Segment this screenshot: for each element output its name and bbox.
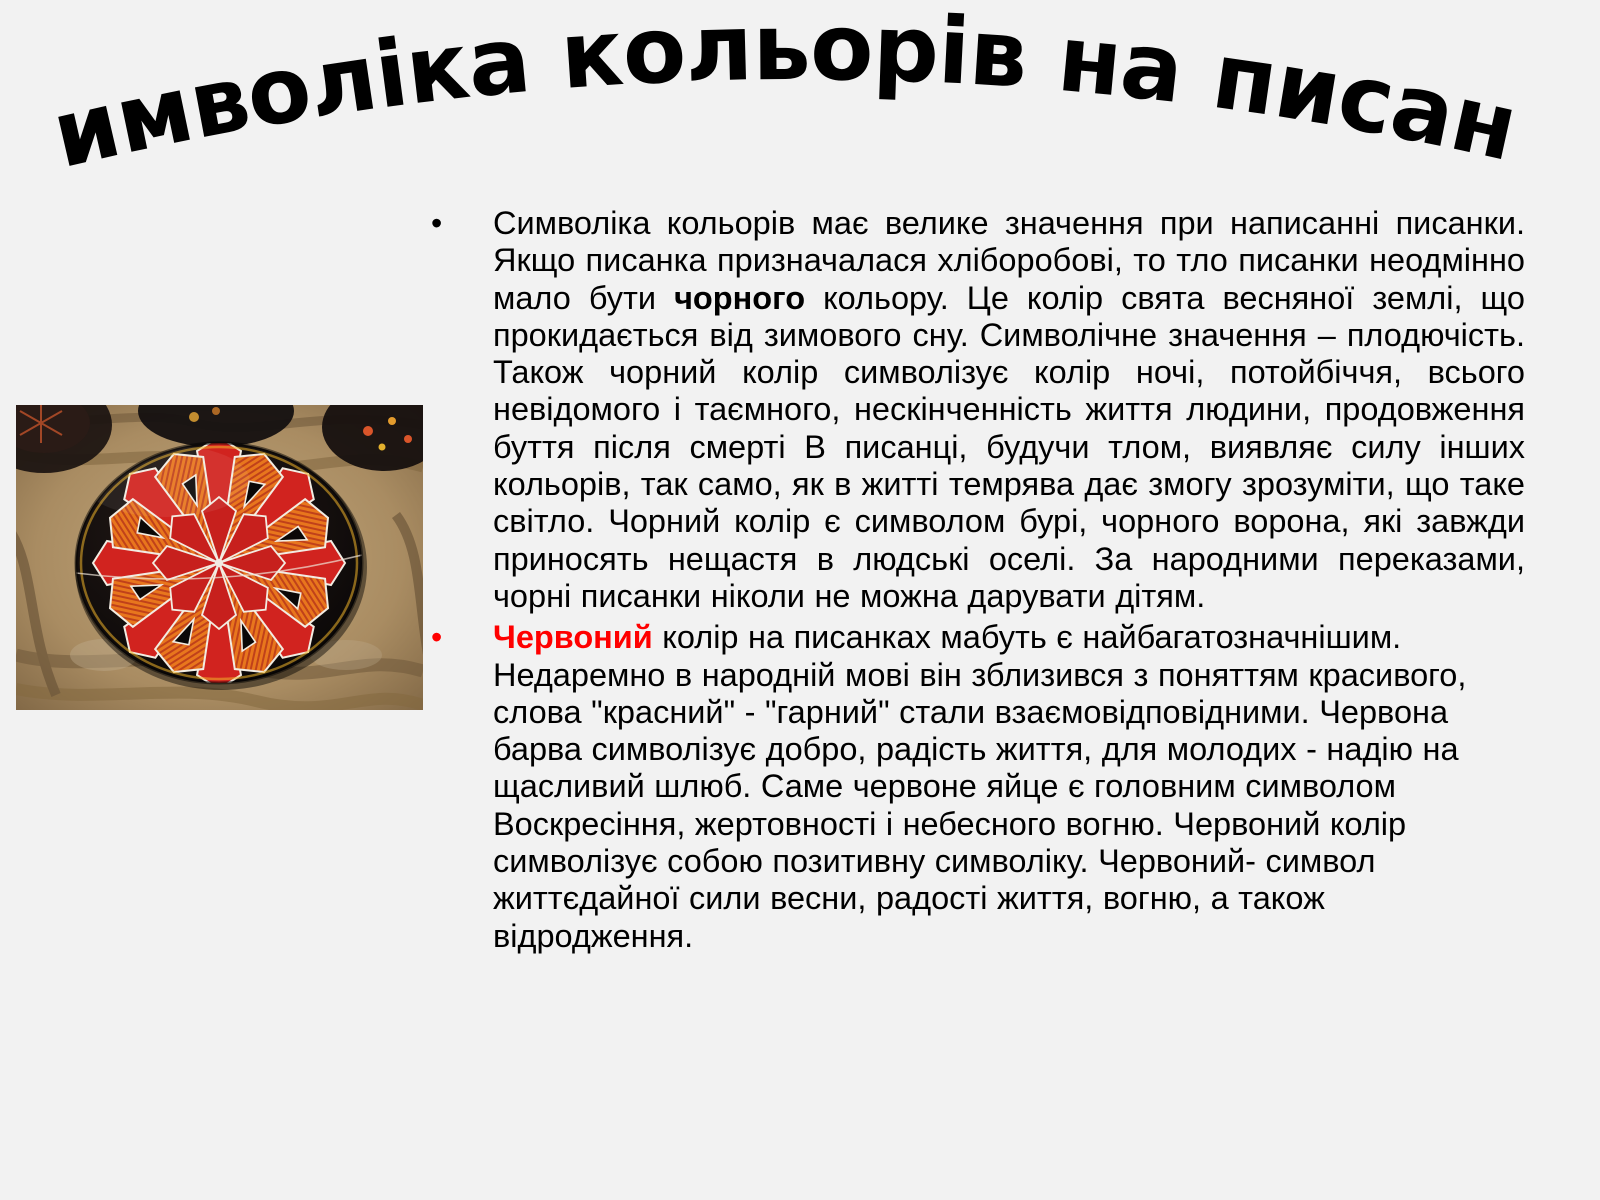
title-text: Символіка кольорів на писанці <box>36 0 1525 189</box>
slide-title: Символіка кольорів на писанці <box>70 14 1530 184</box>
slide: Символіка кольорів на писанці <box>0 0 1600 1200</box>
bullet-0-segment-2: кольору. Це колір свята весняної землі, … <box>493 280 1525 614</box>
bullet-0-segment-1-bold: чорного <box>674 280 805 316</box>
bullet-1-segment-1: колір на писанках мабуть є найбагатознач… <box>493 619 1466 953</box>
title-textpath: Символіка кольорів на писанці <box>36 0 1525 189</box>
pysanka-photo <box>16 405 423 710</box>
bullet-marker-icon: • <box>425 205 493 242</box>
content-body: • Символіка кольорів має велике значення… <box>425 205 1525 959</box>
bullet-text-black: Символіка кольорів має велике значення п… <box>493 205 1525 615</box>
bullet-1-segment-0-bold-red: Червоний <box>493 619 653 655</box>
bullet-item-black: • Символіка кольорів має велике значення… <box>425 205 1525 615</box>
title-wordart: Символіка кольорів на писанці <box>70 14 1530 184</box>
bullet-item-red: • Червоний колір на писанках мабуть є на… <box>425 619 1525 955</box>
pysanka-illustration <box>16 405 423 710</box>
bullet-text-red: Червоний колір на писанках мабуть є найб… <box>493 619 1525 955</box>
bullet-marker-red-icon: • <box>425 619 493 656</box>
